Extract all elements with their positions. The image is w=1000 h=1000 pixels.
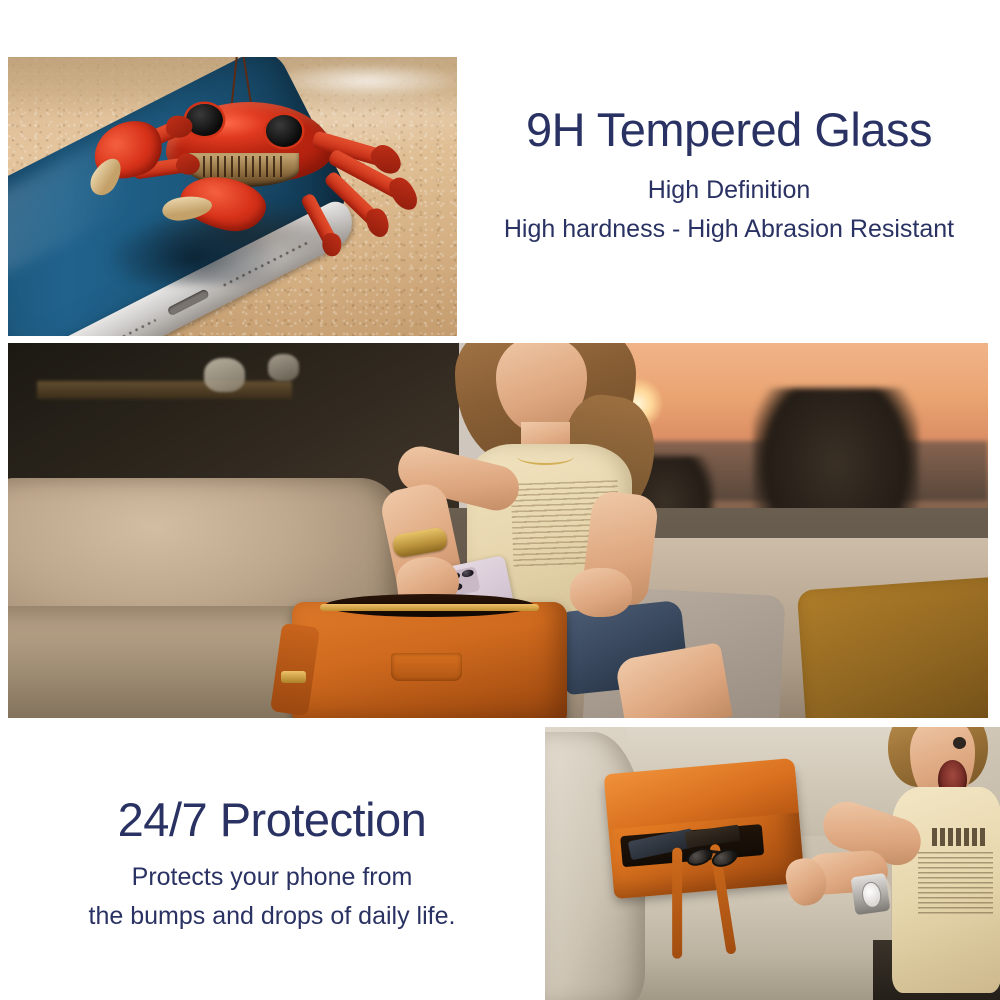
bag-front-tab — [391, 653, 462, 681]
crab-reflection-on-screen — [106, 217, 279, 285]
woman-placing-phone-in-bag-photo — [8, 343, 988, 718]
shelf-vase-2 — [268, 354, 299, 380]
tank-top-brand-print — [932, 828, 989, 846]
orange-leather-handbag — [292, 602, 566, 718]
crab-on-phone-photo — [8, 57, 457, 336]
protection-text-block: 24/7 Protection Protects your phone from… — [22, 795, 522, 929]
wrist-watch — [850, 873, 890, 916]
charging-port — [166, 289, 210, 318]
crab-eye-right — [266, 115, 303, 147]
shocked-woman-figure — [818, 727, 1000, 1000]
shelf-vase-1 — [204, 358, 245, 392]
bag-strap-left — [672, 848, 682, 959]
mustard-pillow — [797, 576, 988, 718]
wall-shelf — [37, 381, 292, 400]
glass-subline-hardness: High hardness - High Abrasion Resistant — [462, 217, 996, 242]
glass-text-block: 9H Tempered Glass High Definition High h… — [462, 105, 996, 242]
gold-necklace — [517, 448, 575, 465]
speaker-holes-left — [95, 318, 157, 336]
infographic-canvas: 9H Tempered Glass High Definition High h… — [0, 0, 1000, 1000]
crab-leg-tip — [364, 207, 391, 240]
orange-handbag-tipping — [604, 763, 805, 899]
tank-top-body-print — [918, 852, 992, 917]
bag-gold-clasp — [281, 671, 306, 684]
woman-shocked-dropping-bag-photo — [545, 727, 1000, 1000]
bag-zipper — [320, 604, 540, 610]
camera-lens-2 — [461, 568, 474, 577]
glass-subline-high-definition: High Definition — [462, 178, 996, 203]
crab-claw-left — [85, 112, 170, 189]
shocked-woman-eye — [953, 737, 966, 749]
protection-subline-2: the bumps and drops of daily life. — [22, 904, 522, 929]
protection-subline-1: Protects your phone from — [22, 865, 522, 890]
protection-headline: 24/7 Protection — [22, 795, 522, 845]
glass-headline: 9H Tempered Glass — [462, 105, 996, 155]
woman-right-hand — [570, 568, 632, 617]
crab-eye-left — [186, 104, 223, 136]
crab-claw-tip — [85, 153, 128, 201]
red-crab — [80, 68, 412, 280]
